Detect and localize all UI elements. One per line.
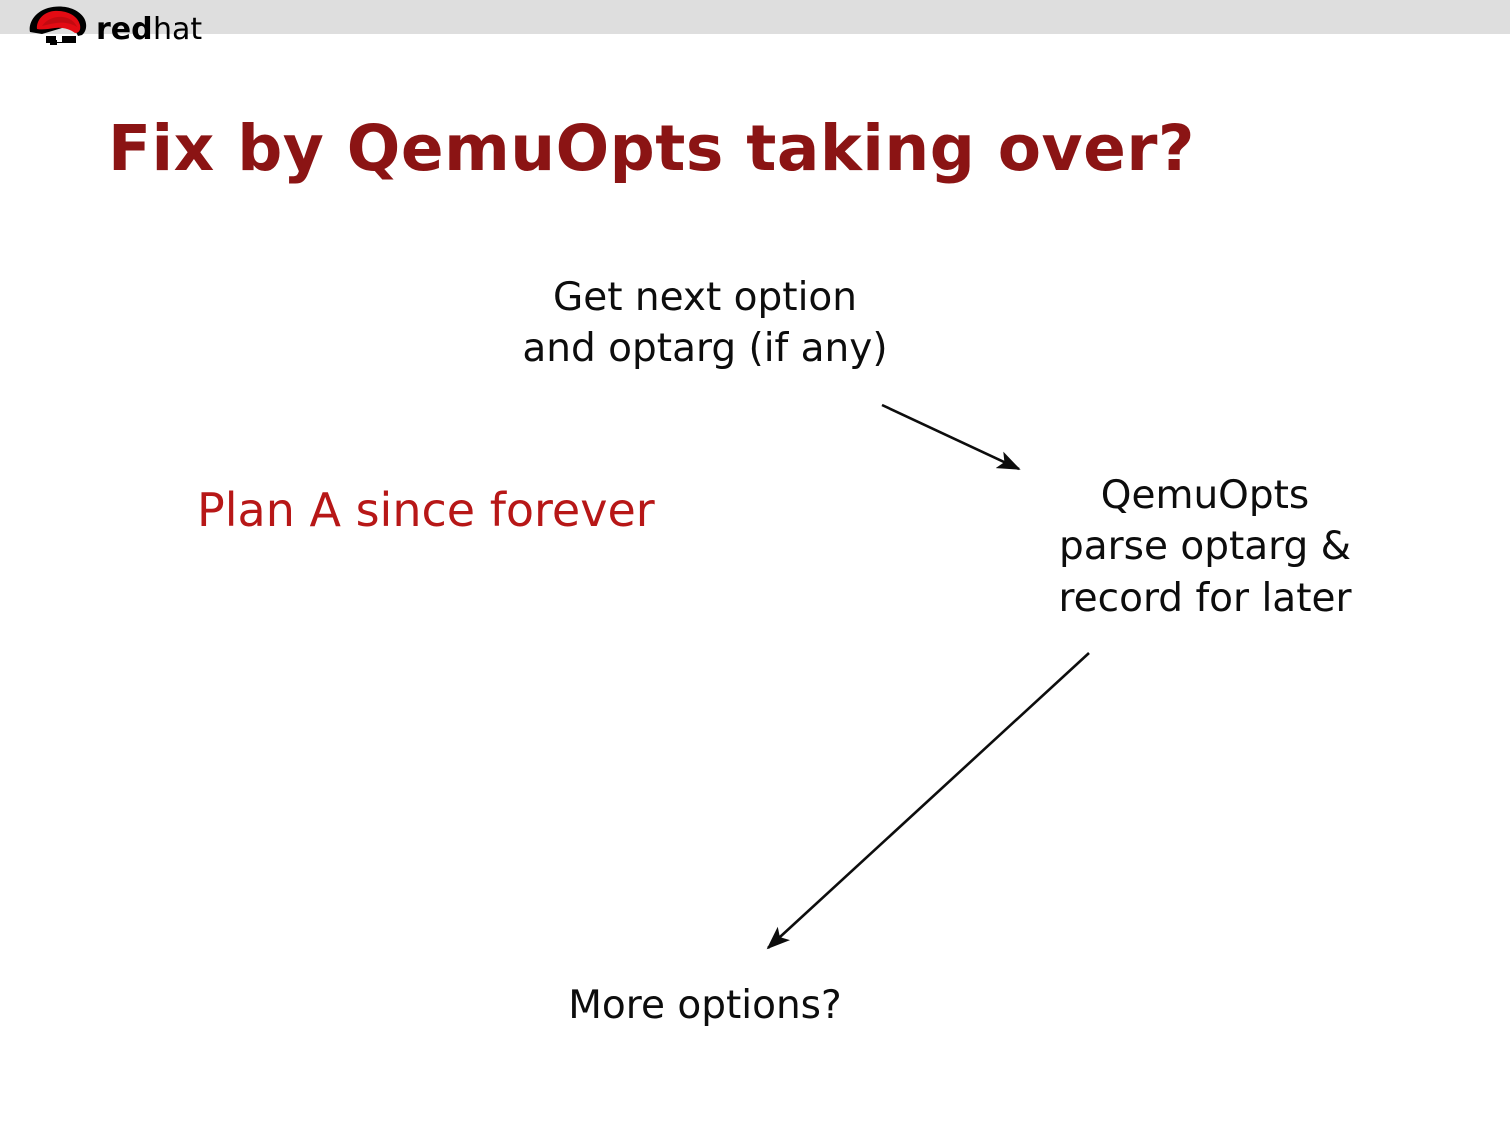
slide-canvas: red hat Fix by QemuOpts taking over? Get… <box>0 0 1510 1133</box>
arrow-qemuopts-to-more-options <box>768 653 1089 948</box>
flow-node-get-next-option: Get next option and optarg (if any) <box>435 272 975 375</box>
page-title: Fix by QemuOpts taking over? <box>108 116 1195 182</box>
flow-node-more-options: More options? <box>495 980 915 1031</box>
logo-wordmark-hat: hat <box>153 12 202 47</box>
annotation-plan-a: Plan A since forever <box>197 485 655 536</box>
redhat-shadowman-logo: red hat <box>22 2 222 48</box>
arrow-get-next-to-qemuopts <box>882 405 1019 469</box>
flow-node-qemuopts-parse: QemuOpts parse optarg & record for later <box>1010 470 1400 624</box>
header-band <box>0 0 1510 34</box>
logo-wordmark-red: red <box>96 12 153 47</box>
